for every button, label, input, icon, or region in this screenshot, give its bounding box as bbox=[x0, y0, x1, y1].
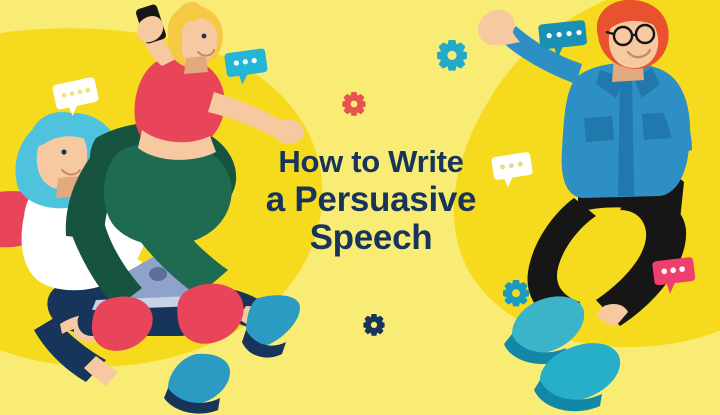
speech-bubble-teal-upper-mid-icon bbox=[224, 48, 269, 86]
speech-bubble-pink-bottom-right-icon bbox=[652, 257, 697, 296]
promo-banner: How to Write a Persuasive Speech bbox=[0, 0, 720, 415]
gear-coral-upper-mid-icon bbox=[342, 92, 365, 116]
gear-navy-bottom-center-icon bbox=[363, 314, 384, 336]
decorations-layer bbox=[0, 0, 720, 415]
speech-bubble-white-mid-right-icon bbox=[491, 152, 535, 190]
speech-bubble-white-top-left-icon bbox=[52, 77, 101, 119]
gear-teal-top-mid-icon bbox=[437, 40, 467, 71]
speech-bubble-teal-top-right-icon bbox=[538, 20, 588, 60]
gear-teal-bottom-mid-icon bbox=[503, 280, 529, 306]
